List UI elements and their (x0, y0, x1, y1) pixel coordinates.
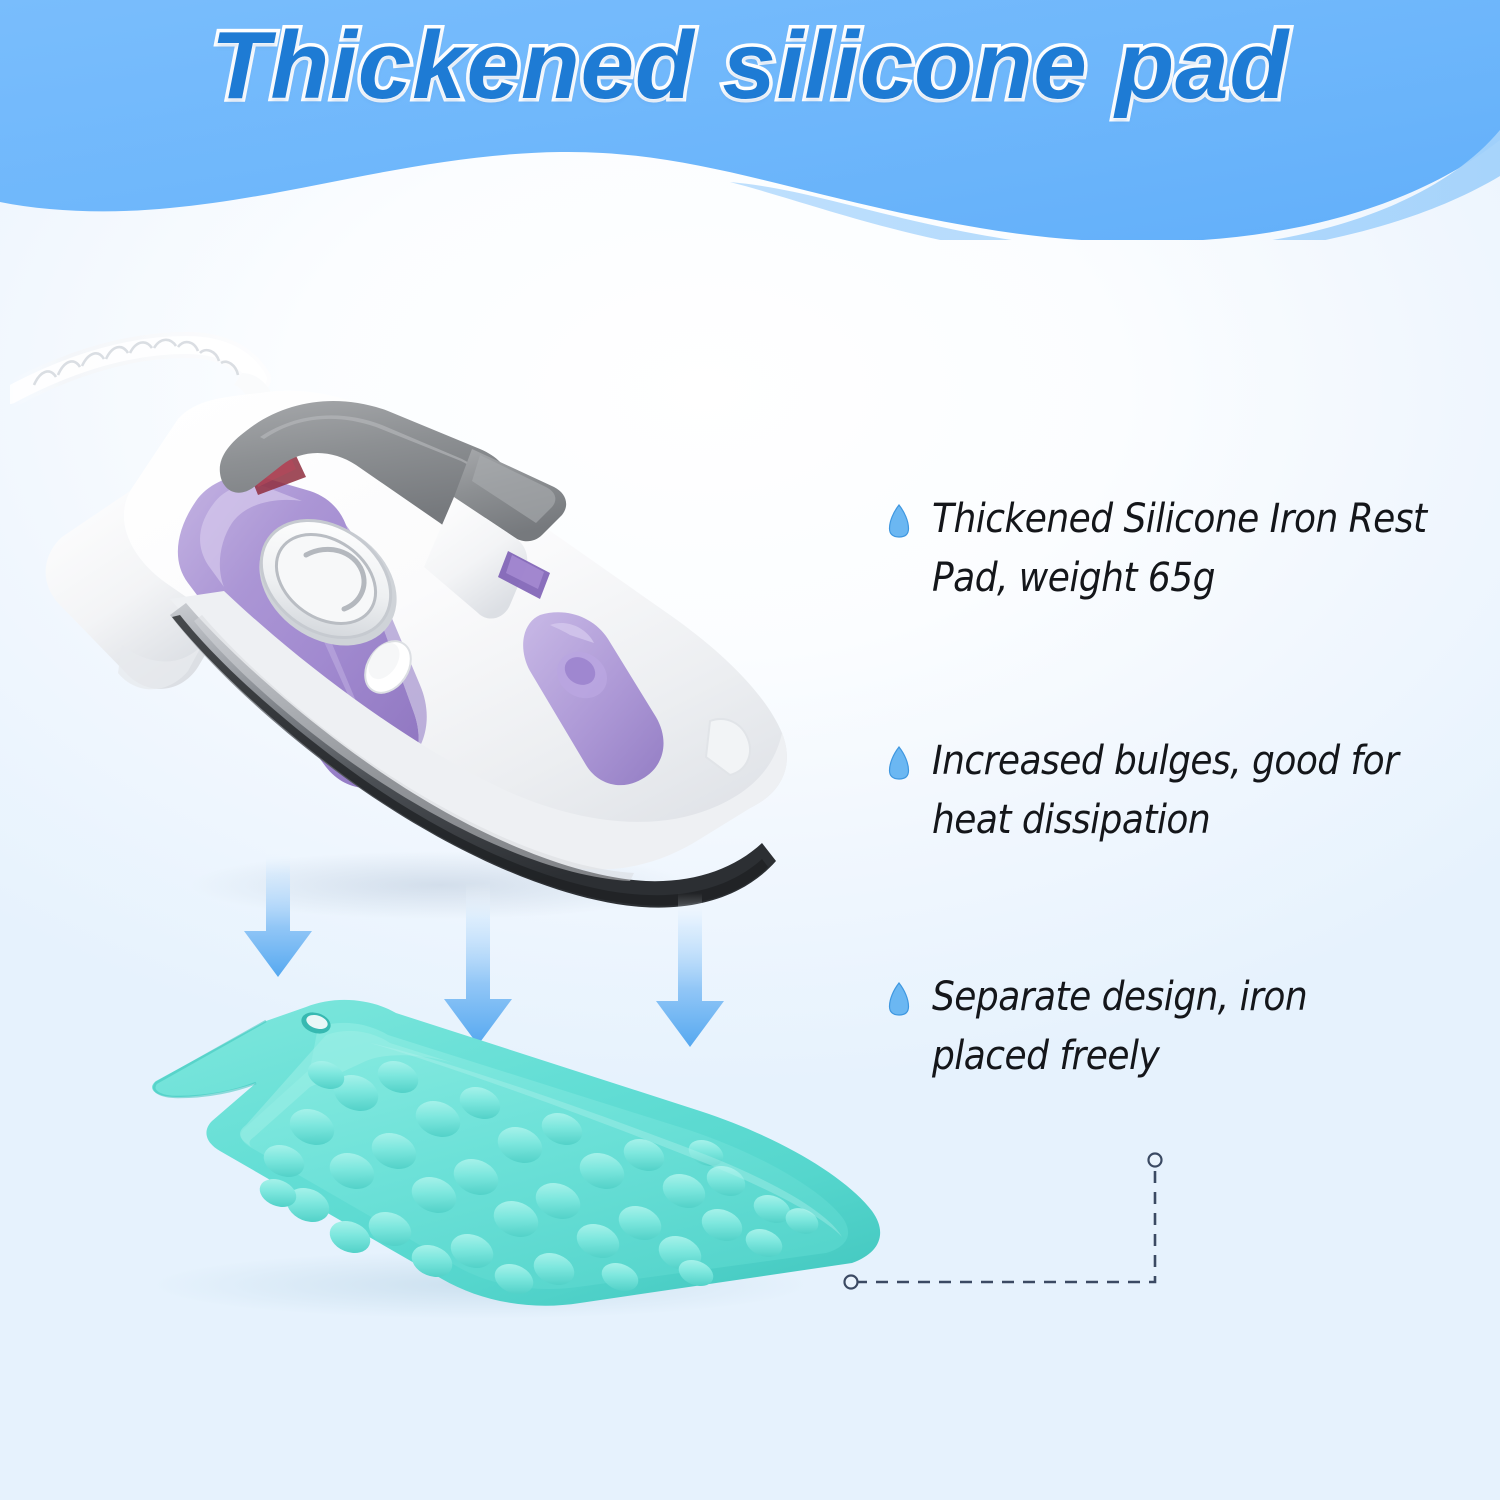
callout-line (855, 1164, 1155, 1282)
silicone-pad-image (60, 985, 900, 1325)
feature-item-3: Separate design, iron placed freely (888, 968, 1488, 1086)
iron-pad-icon (888, 982, 910, 1016)
feature-list: Thickened Silicone Iron Rest Pad, weight… (888, 470, 1488, 1150)
arrow-1 (244, 845, 312, 977)
infographic-page: Thickened silicone pad (0, 0, 1500, 1500)
iron-pad-icon (888, 746, 910, 780)
feature-text-1: Thickened Silicone Iron Rest Pad, weight… (932, 490, 1432, 608)
feature-text-3: Separate design, iron placed freely (932, 968, 1432, 1086)
dimension-callout (835, 1140, 1195, 1300)
feature-item-2: Increased bulges, good for heat dissipat… (888, 732, 1488, 850)
callout-endpoint-start (845, 1276, 858, 1289)
iron-pad-icon (888, 504, 910, 538)
feature-item-1: Thickened Silicone Iron Rest Pad, weight… (888, 490, 1488, 608)
feature-text-2: Increased bulges, good for heat dissipat… (932, 732, 1432, 850)
callout-endpoint-end (1149, 1154, 1162, 1167)
steam-iron-image (10, 315, 850, 935)
page-title: Thickened silicone pad (0, 16, 1500, 117)
